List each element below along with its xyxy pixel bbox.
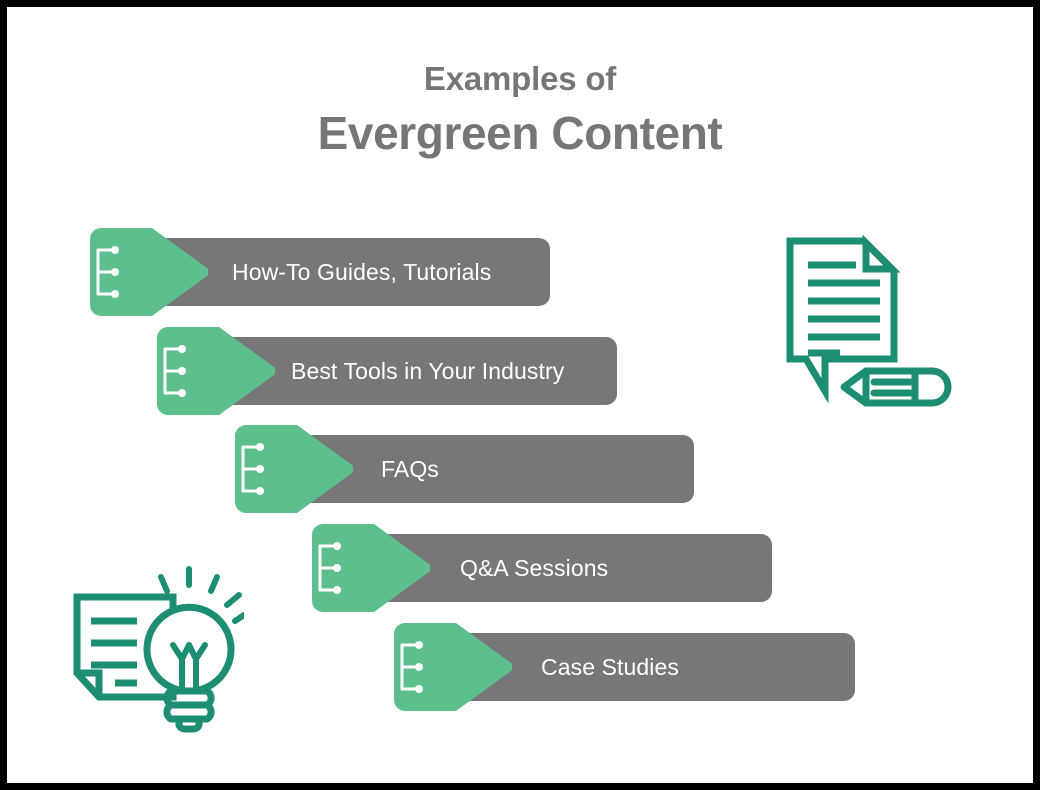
document-pencil-icon xyxy=(784,235,960,415)
list-item[interactable]: Q&A Sessions xyxy=(312,524,772,612)
list-item[interactable]: FAQs xyxy=(235,425,694,513)
list-item-label: How-To Guides, Tutorials xyxy=(232,238,491,306)
flag-arrow-shape xyxy=(157,327,275,415)
list-item-label: Best Tools in Your Industry xyxy=(291,337,564,405)
flag-arrow-shape xyxy=(312,524,430,612)
lightbulb-note-icon xyxy=(69,563,244,733)
flag-arrow-shape xyxy=(90,228,208,316)
page-title: Examples of Evergreen Content xyxy=(7,59,1033,163)
flag-arrow-shape xyxy=(394,623,512,711)
list-item[interactable]: How-To Guides, Tutorials xyxy=(90,228,550,316)
title-line-2: Evergreen Content xyxy=(7,103,1033,163)
list-item[interactable]: Case Studies xyxy=(394,623,855,711)
title-line-1: Examples of xyxy=(7,59,1033,99)
list-item-label: Case Studies xyxy=(541,633,679,701)
flag-arrow-shape xyxy=(235,425,353,513)
list-item[interactable]: Best Tools in Your Industry xyxy=(157,327,617,415)
list-item-label: Q&A Sessions xyxy=(460,534,608,602)
slide-canvas: Examples of Evergreen Content H xyxy=(7,7,1033,783)
list-item-label: FAQs xyxy=(381,435,439,503)
